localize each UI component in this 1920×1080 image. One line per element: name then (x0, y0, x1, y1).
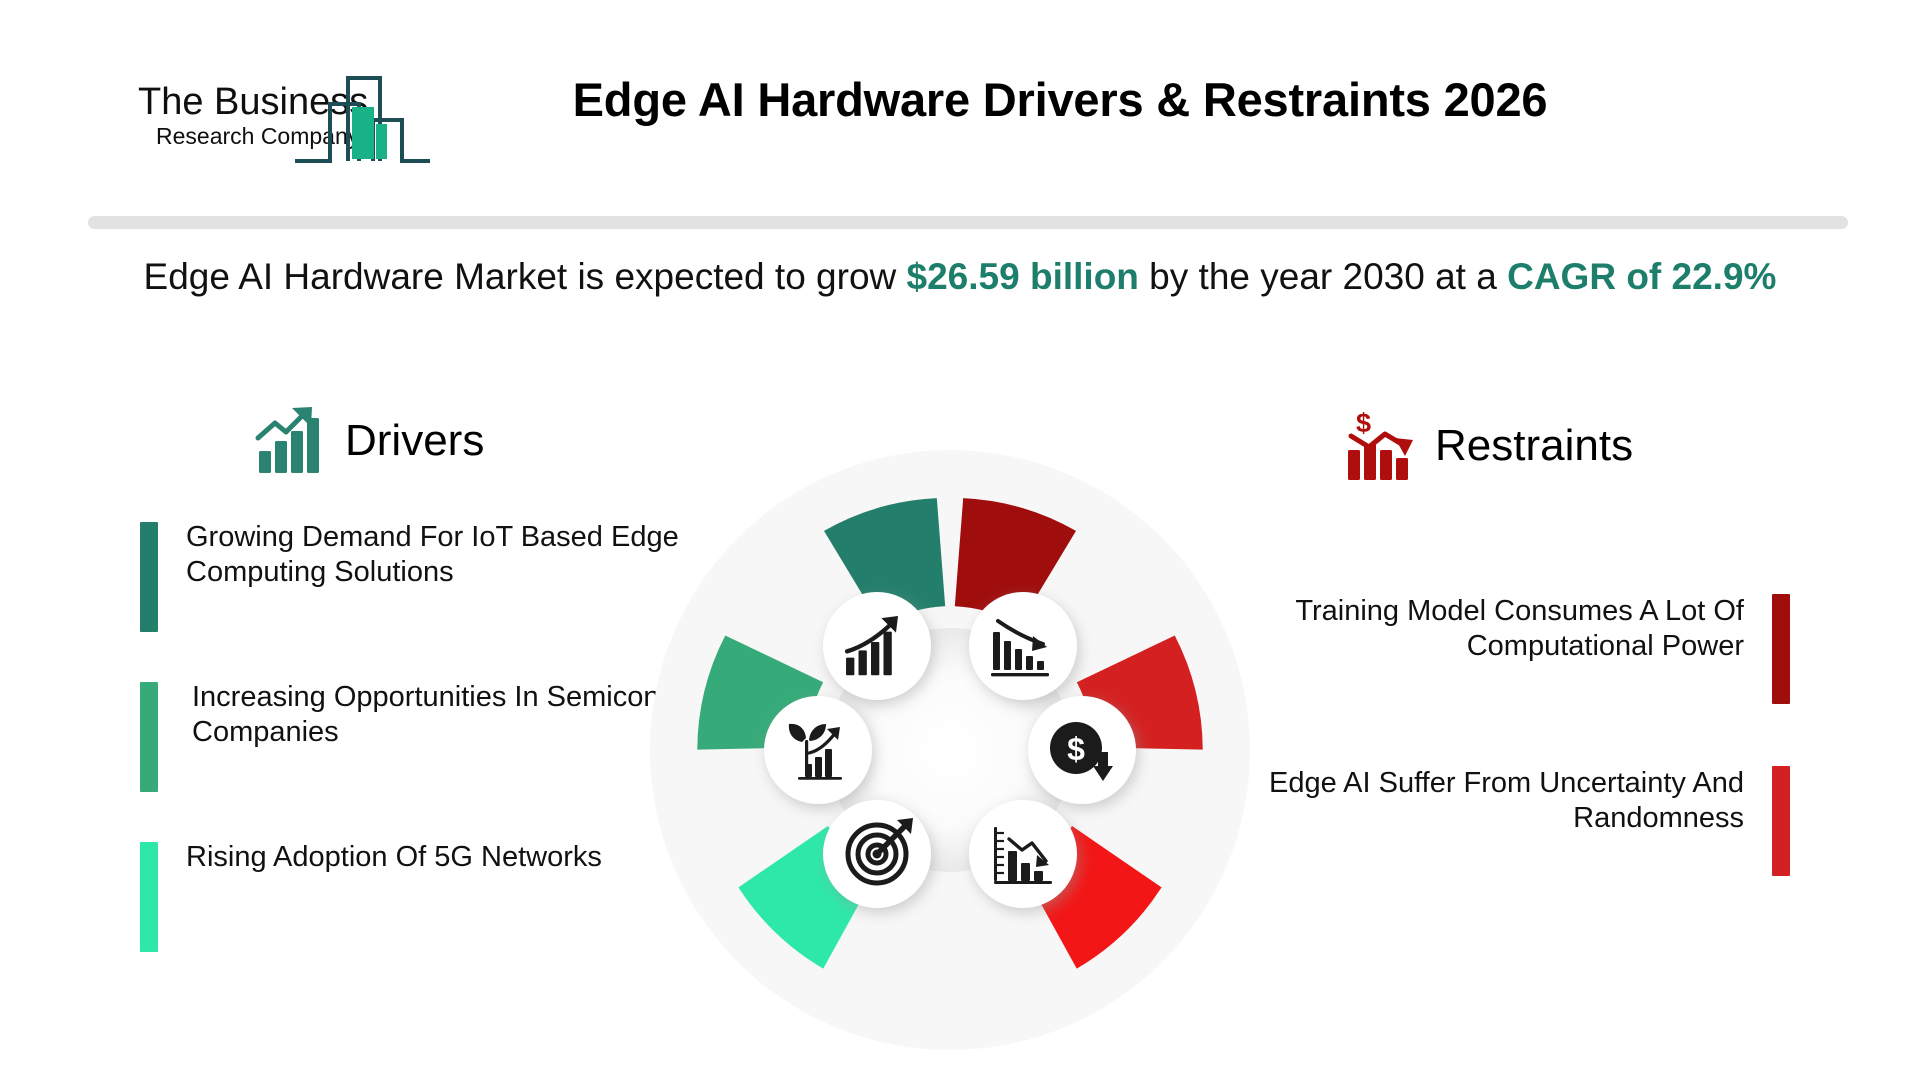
dollar-glyph: $ (1067, 731, 1085, 767)
rising-bar-chart-arrow-icon (255, 405, 329, 477)
badge-falling-bar-chart-arrow-icon (969, 592, 1077, 700)
page-title: Edge AI Hardware Drivers & Restraints 20… (500, 72, 1620, 127)
restraint-accent-bar-1 (1772, 594, 1790, 704)
market-summary: Edge AI Hardware Market is expected to g… (60, 256, 1860, 298)
header-divider (88, 216, 1848, 229)
badge-declining-line-chart-icon (969, 800, 1077, 908)
falling-bar-chart-dollar-arrow-icon: $ (1345, 410, 1419, 482)
company-logo: The Business Research Company (130, 58, 470, 173)
drivers-heading: Drivers (255, 405, 484, 477)
list-item: Edge AI Suffer From Uncertainty And Rand… (1170, 760, 1790, 932)
drivers-heading-label: Drivers (345, 416, 484, 466)
restraint-accent-bar-2 (1772, 766, 1790, 876)
drivers-restraints-donut-chart: $ (640, 440, 1260, 1060)
dollar-glyph: $ (1356, 410, 1371, 438)
driver-accent-bar-1 (140, 522, 158, 632)
market-value: $26.59 billion (907, 256, 1139, 297)
logo-bar-teal-tall (352, 107, 374, 159)
infographic-page: The Business Research Company Edge AI Ha… (0, 0, 1920, 1080)
market-summary-part1: Edge AI Hardware Market is expected to g… (144, 256, 907, 297)
logo-bar-teal-short (376, 124, 387, 159)
market-summary-part2: by the year 2030 at a (1139, 256, 1507, 297)
header: The Business Research Company Edge AI Ha… (0, 0, 1920, 200)
driver-accent-bar-3 (140, 842, 158, 952)
driver-accent-bar-2 (140, 682, 158, 792)
list-item: Training Model Consumes A Lot Of Computa… (1170, 588, 1790, 760)
restraints-heading: $ Restraints (1345, 410, 1633, 482)
restraints-heading-label: Restraints (1435, 421, 1633, 471)
cagr-value: CAGR of 22.9% (1507, 256, 1776, 297)
restraints-list: Training Model Consumes A Lot Of Computa… (1170, 588, 1790, 932)
